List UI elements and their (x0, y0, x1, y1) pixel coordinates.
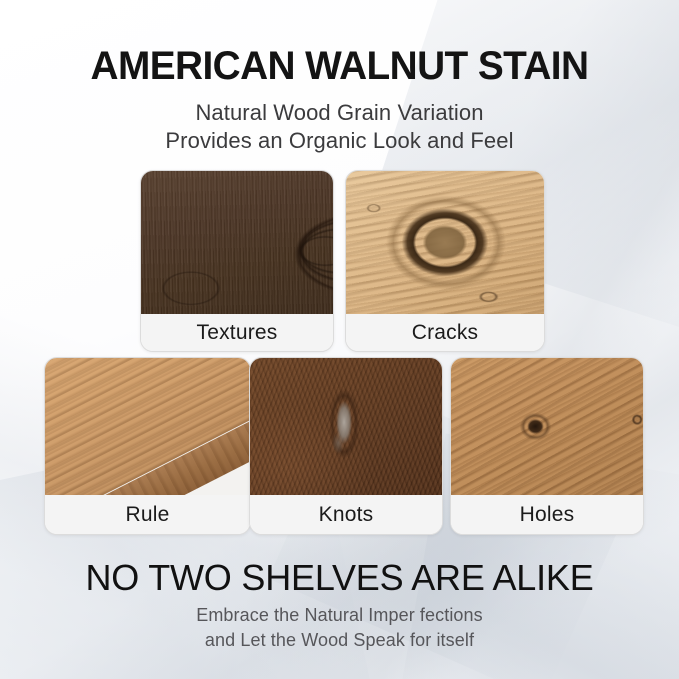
feature-card-holes: Holes (450, 357, 644, 535)
rule-photo (45, 358, 250, 495)
cracks-photo (346, 171, 544, 314)
feature-label-holes: Holes (451, 495, 643, 534)
holes-photo (451, 358, 643, 495)
wood-plank-edge-photo (45, 358, 250, 495)
textures-photo (141, 171, 333, 314)
feature-card-textures: Textures (140, 170, 334, 352)
footer-headline: NO TWO SHELVES ARE ALIKE (0, 557, 679, 599)
feature-card-rule: Rule (44, 357, 251, 535)
dark-wood-knot-photo (250, 358, 442, 495)
dark-walnut-grain-photo (141, 171, 333, 314)
feature-card-cracks: Cracks (345, 170, 545, 352)
feature-label-textures: Textures (141, 314, 333, 351)
knots-photo (250, 358, 442, 495)
product-infographic: AMERICAN WALNUT STAIN Natural Wood Grain… (0, 0, 679, 679)
main-headline: AMERICAN WALNUT STAIN (10, 44, 669, 89)
feature-label-knots: Knots (250, 495, 442, 534)
footer-subtitle-line-2: and Let the Wood Speak for itself (0, 628, 679, 653)
footer-subtitle-line-1: Embrace the Natural Imper fections (196, 605, 483, 625)
feature-label-rule: Rule (45, 495, 250, 534)
main-subtitle: Natural Wood Grain Variation Provides an… (0, 99, 679, 155)
feature-label-cracks: Cracks (346, 314, 544, 351)
feature-card-knots: Knots (249, 357, 443, 535)
light-wood-knot-photo (346, 171, 544, 314)
main-subtitle-line-1: Natural Wood Grain Variation (195, 100, 483, 125)
oak-wood-hole-photo (451, 358, 643, 495)
infographic-content: AMERICAN WALNUT STAIN Natural Wood Grain… (0, 0, 679, 679)
footer-subtitle: Embrace the Natural Imper fections and L… (0, 603, 679, 653)
main-subtitle-line-2: Provides an Organic Look and Feel (0, 127, 679, 155)
